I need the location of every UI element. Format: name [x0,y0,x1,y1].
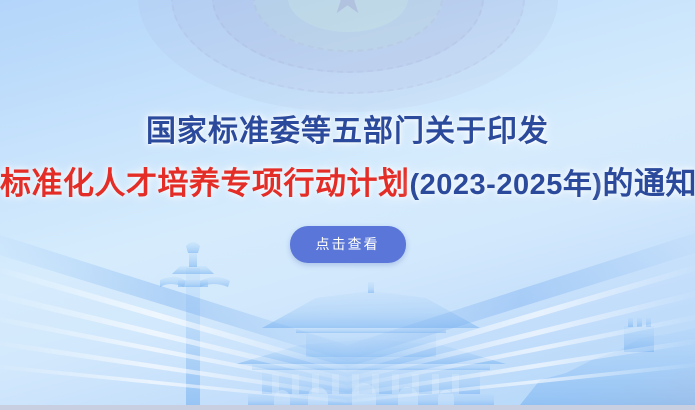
tiananmen-huabiao-greatwall-silhouette [0,240,695,405]
banner-content: 国家标准委等五部门关于印发 标准化人才培养专项行动计划(2023-2025年)的… [0,112,695,263]
star-icon: ★ [327,0,368,20]
star-emblem-watermark: ★ [133,0,563,114]
policy-promo-banner: ★ [0,0,695,410]
page-title-date-range: (2023-2025年) [410,169,603,201]
cta-wrapper: 点击查看 [0,226,695,263]
bottom-edge-strip [0,405,695,410]
emblem-ring-4 [253,0,443,52]
emblem-ring-2 [171,0,525,94]
view-detail-button[interactable]: 点击查看 [290,226,406,263]
page-title-suffix: 的通知 [603,166,695,201]
page-title-highlight: 标准化人才培养专项行动计划 [0,166,410,201]
emblem-ring-3 [212,0,484,73]
emblem-ring-inner [288,0,408,32]
page-title-line-2: 标准化人才培养专项行动计划(2023-2025年)的通知 [0,164,695,205]
page-title-line-1: 国家标准委等五部门关于印发 [0,112,695,152]
emblem-ring-outer [138,0,558,112]
